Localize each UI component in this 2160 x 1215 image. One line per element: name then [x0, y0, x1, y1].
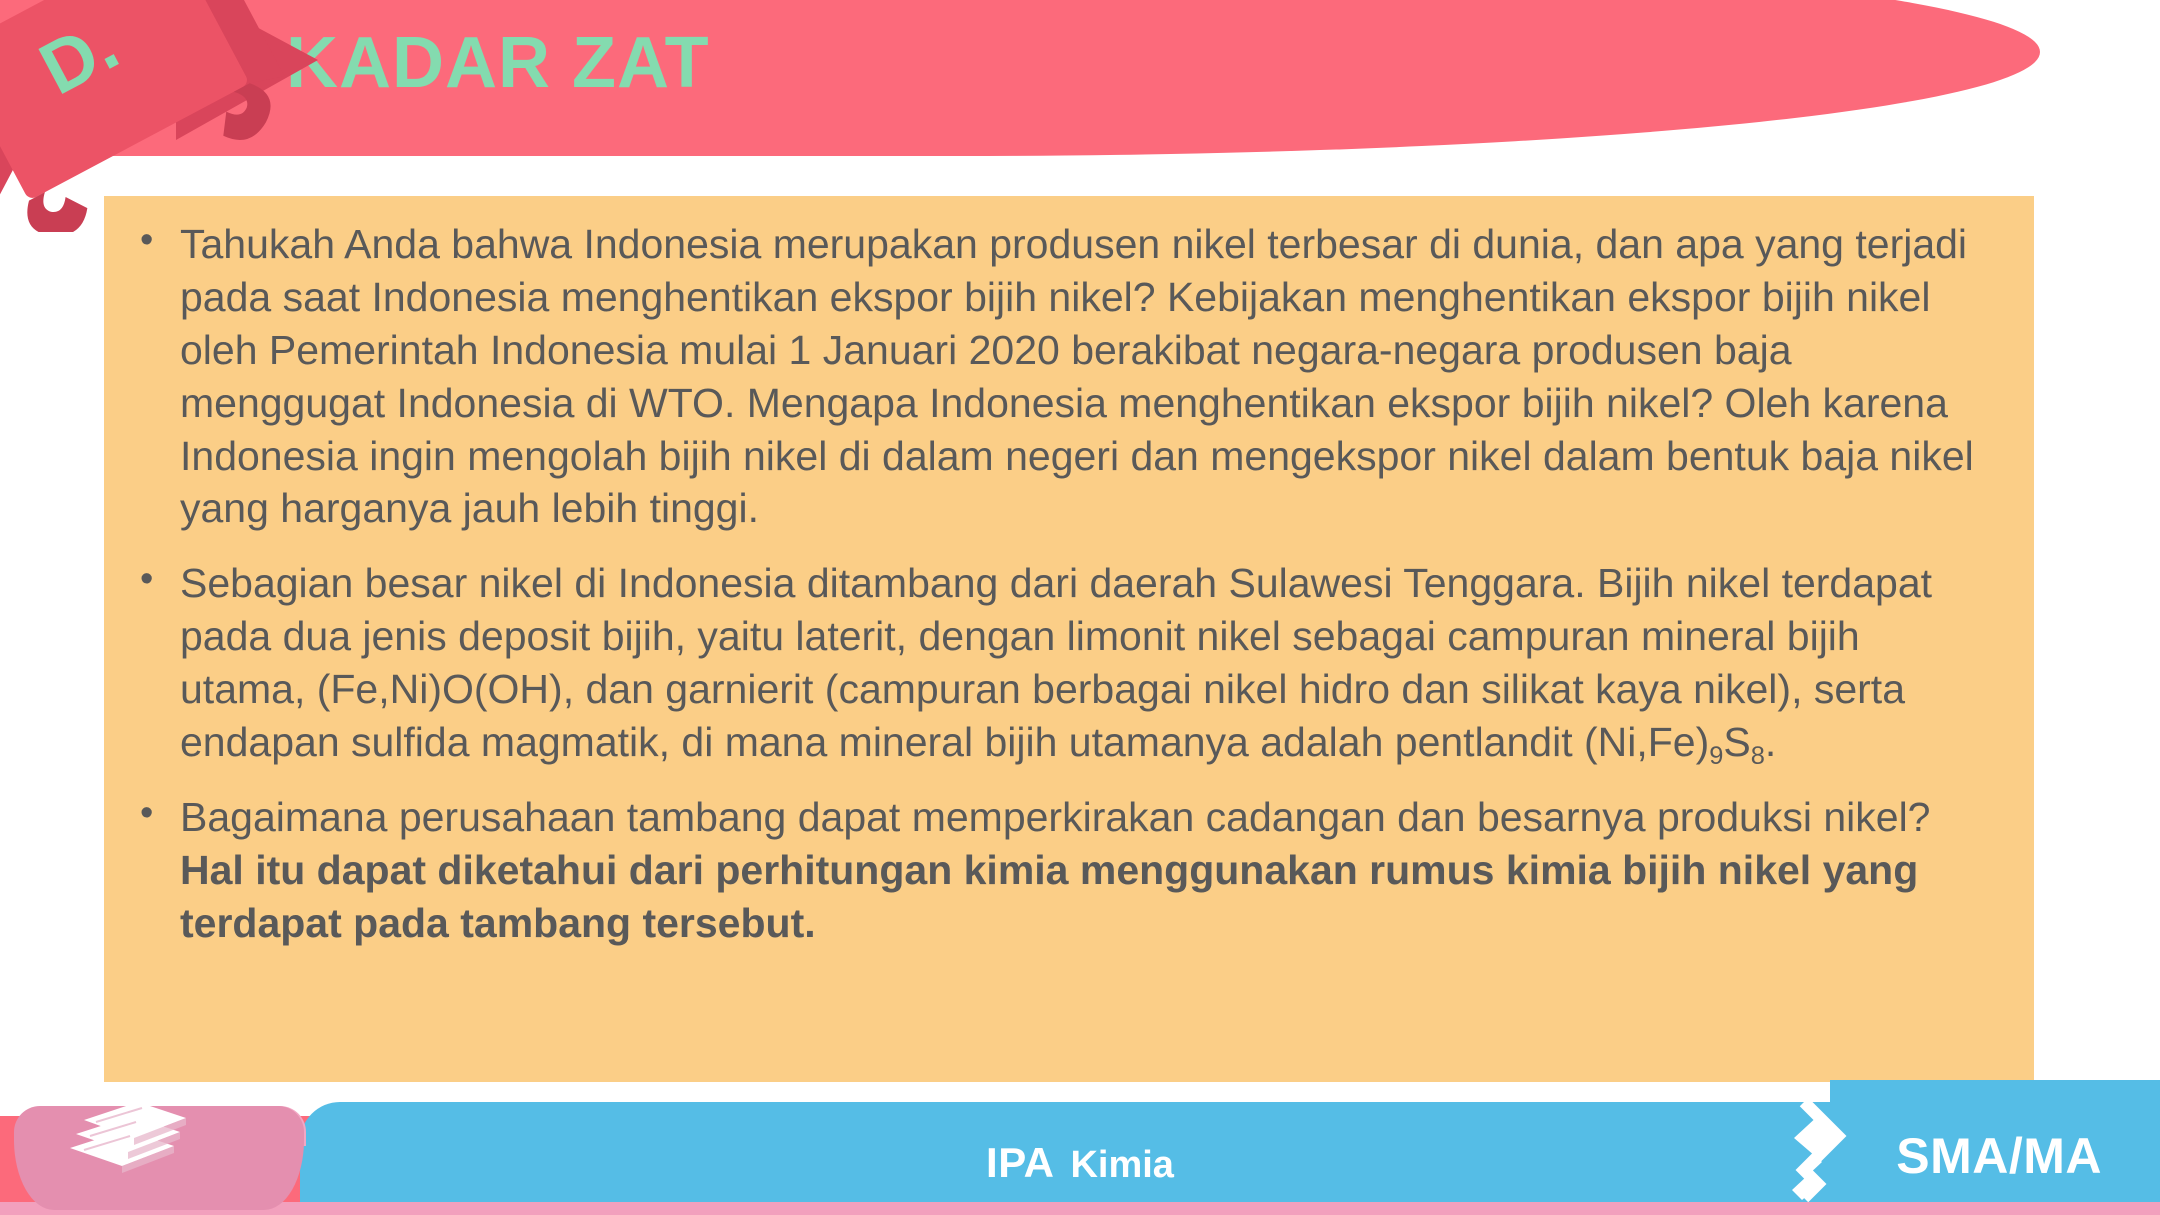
bullet-list: Tahukah Anda bahwa Indonesia merupakan p… [124, 218, 1978, 949]
list-item-cadangan-produksi: Bagaimana perusahaan tambang dapat mempe… [124, 791, 1978, 950]
section-ribbon: D. [0, 0, 358, 232]
slide-canvas: KADAR ZAT D. [0, 0, 2160, 1215]
bullet-text-2-main: Sebagian besar nikel di Indonesia ditamb… [180, 560, 1932, 765]
content-panel: Tahukah Anda bahwa Indonesia merupakan p… [104, 196, 2034, 1082]
slide-footer: IPAKimia SMA/MA [0, 1080, 2160, 1215]
footer-blue-notch [1830, 1080, 2160, 1102]
footer-bottom-strip [0, 1202, 2160, 1215]
subscript-eight: 8 [1751, 742, 1765, 770]
list-item-nikel-produsen: Tahukah Anda bahwa Indonesia merupakan p… [124, 218, 1978, 535]
bullet-text-3-bold: Hal itu dapat diketahui dari perhitungan… [180, 847, 1918, 946]
footer-subject-main: IPA [986, 1139, 1054, 1186]
bullet-text-2-period: . [1765, 719, 1776, 765]
bullet-text-1: Tahukah Anda bahwa Indonesia merupakan p… [180, 221, 1974, 531]
bullet-text-2-sulfur: S [1723, 719, 1750, 765]
footer-subject-name: Kimia [1070, 1144, 1173, 1186]
subscript-nine: 9 [1709, 742, 1723, 770]
chevron-right-icon [1792, 1102, 1848, 1202]
list-item-deposit-bijih: Sebagian besar nikel di Indonesia ditamb… [124, 557, 1978, 769]
footer-education-level: SMA/MA [1896, 1127, 2102, 1185]
bullet-text-3-normal: Bagaimana perusahaan tambang dapat mempe… [180, 794, 1931, 840]
